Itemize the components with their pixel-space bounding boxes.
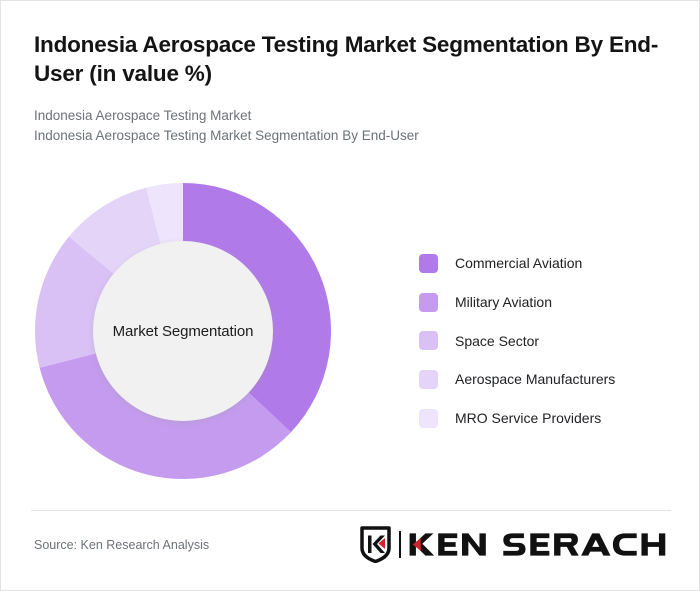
legend-item[interactable]: Commercial Aviation: [419, 244, 674, 283]
legend-label: Space Sector: [455, 333, 539, 349]
legend-swatch: [419, 331, 438, 350]
legend-item[interactable]: Aerospace Manufacturers: [419, 360, 674, 399]
subtitle-segmentation: Indonesia Aerospace Testing Market Segme…: [34, 126, 674, 147]
legend-swatch: [419, 370, 438, 389]
legend-label: Aerospace Manufacturers: [455, 371, 615, 387]
legend-item[interactable]: MRO Service Providers: [419, 399, 674, 438]
ken-research-wordmark: [408, 531, 670, 558]
legend-swatch: [419, 293, 438, 312]
source-note: Source: Ken Research Analysis: [34, 538, 209, 552]
legend-item[interactable]: Space Sector: [419, 321, 674, 360]
legend-label: Commercial Aviation: [455, 255, 582, 271]
donut-hole: [93, 241, 273, 421]
legend-label: Military Aviation: [455, 294, 552, 310]
chart-legend: Commercial AviationMilitary AviationSpac…: [419, 244, 674, 437]
subtitle-market: Indonesia Aerospace Testing Market: [34, 106, 674, 127]
footer-divider: [31, 510, 671, 511]
ken-research-shield-icon: [360, 526, 391, 563]
legend-swatch: [419, 254, 438, 273]
donut-svg: [35, 183, 331, 479]
chart-page: Indonesia Aerospace Testing Market Segme…: [0, 0, 700, 591]
ken-research-logo: [360, 525, 670, 563]
legend-item[interactable]: Military Aviation: [419, 283, 674, 322]
logo-divider: [399, 531, 401, 558]
donut-chart: Market Segmentation: [35, 183, 331, 479]
legend-swatch: [419, 409, 438, 428]
legend-label: MRO Service Providers: [455, 410, 601, 426]
page-title: Indonesia Aerospace Testing Market Segme…: [34, 31, 674, 89]
subtitle-block: Indonesia Aerospace Testing Market Indon…: [34, 106, 674, 147]
chart-header: Indonesia Aerospace Testing Market Segme…: [34, 31, 674, 147]
